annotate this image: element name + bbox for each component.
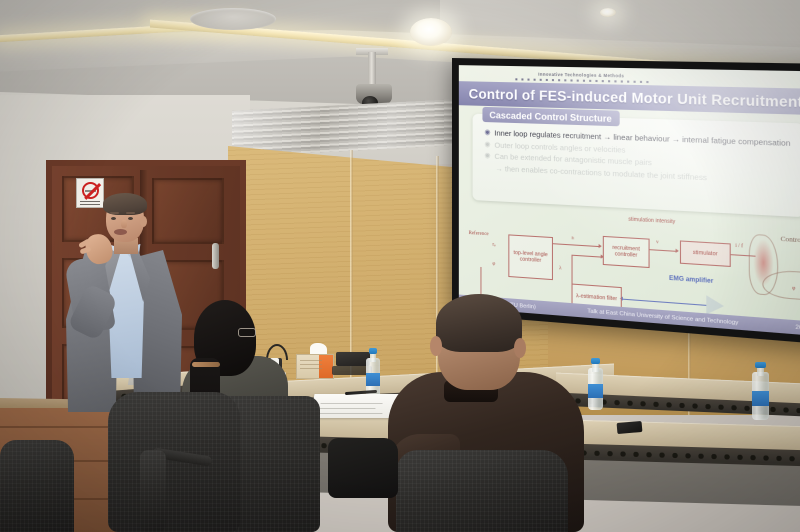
bullet-dot-icon: ◉ <box>484 140 490 150</box>
paper-line-3 <box>318 413 382 414</box>
diagram-block-top-level-angle-controller: top-level angle controller <box>508 234 553 280</box>
slide-bullet-list: ◉ Inner loop regulates recruitment → lin… <box>484 128 794 189</box>
diagram-signal-phi-out: φ <box>792 286 795 292</box>
presenter-nose <box>121 220 127 228</box>
presenter-brow-left <box>110 212 119 214</box>
presenter <box>60 196 190 416</box>
diagram-signal-lambda: λ <box>559 266 562 271</box>
water-bottle-2[interactable] <box>588 358 603 410</box>
presenter-brow-right <box>126 212 135 214</box>
chair-post-left <box>140 450 166 532</box>
attendee-left-glasses-icon <box>238 328 256 337</box>
bottle-cap <box>755 362 765 368</box>
presenter-eye-right <box>128 217 133 220</box>
bag-under-table <box>328 438 398 498</box>
chair-mesh-empty-left <box>108 392 240 532</box>
diagram-label-reference: Reference <box>469 231 489 237</box>
diagram-signal-v: v <box>656 240 659 245</box>
footer-page-number: 26 / 73 <box>795 324 800 332</box>
downlight-icon-5 <box>600 8 616 17</box>
diagram-signal-phi-in: φ <box>492 262 495 267</box>
tissue-box-print <box>300 360 322 372</box>
diagram-arrow-1 <box>599 244 602 248</box>
lecture-room-photo: Innovative Technologies & Methods Contro… <box>0 0 800 532</box>
diagram-link-lambda-in <box>572 255 603 258</box>
block-label: recruitment controller <box>605 244 648 259</box>
paper-line-1 <box>320 403 382 404</box>
diagram-arrow-2 <box>676 249 679 253</box>
attendee-right-ear-right <box>514 338 526 358</box>
bullet-dot-icon: ◉ <box>484 128 490 137</box>
attendee-right-ear-left <box>430 336 442 356</box>
chair-empty-far-left[interactable] <box>0 440 74 532</box>
chair-front-right[interactable] <box>396 450 568 532</box>
diagram-block-stimulator: stimulator <box>680 240 731 267</box>
smartphone[interactable] <box>617 421 643 434</box>
diagram-block-recruitment-controller: recruitment controller <box>603 236 650 268</box>
door-handle[interactable] <box>212 243 219 269</box>
block-label: stimulator <box>693 250 718 258</box>
bottle-label <box>588 384 603 398</box>
diagram-arrow-lambda <box>601 254 604 258</box>
bottle-label <box>366 373 380 386</box>
bottle-cap <box>369 348 377 354</box>
slide-content-box: Cascaded Control Structure ◉ Inner loop … <box>473 114 800 218</box>
diagram-label-emg-amplifier: EMG amplifier <box>669 276 713 285</box>
presenter-mouth <box>114 229 127 235</box>
water-bottle-3[interactable] <box>752 362 769 420</box>
presenter-eye-left <box>111 217 116 220</box>
dark-equipment-2 <box>336 352 370 366</box>
diagram-link-lambda-up <box>572 255 573 296</box>
attendee-left-hair-tie <box>192 362 220 367</box>
bottle-label <box>752 391 769 406</box>
presenter-ear <box>140 216 147 227</box>
diagram-signal-r-lambda: rₗ <box>572 235 575 241</box>
attendee-right-hair <box>436 294 522 352</box>
diagram-link-emg <box>622 299 706 306</box>
chair-mesh-front-right <box>396 450 568 532</box>
paper-line-2 <box>319 408 375 409</box>
chair-mesh-far-left <box>0 440 74 532</box>
bottle-cap <box>591 358 600 364</box>
ceiling-speaker-icon <box>190 8 276 30</box>
projector-mount <box>368 52 376 88</box>
diagram-label-controlled-variable: Controlled variable <box>781 236 800 247</box>
slide-title: Control of FES-induced Motor Unit Recrui… <box>459 86 800 110</box>
diagram-label-stimulation-intensity: stimulation intensity <box>620 216 685 226</box>
chair-empty-left[interactable] <box>108 392 240 532</box>
diagram-signal-i-f: i / f <box>735 244 743 250</box>
diagram-link-2 <box>650 249 678 252</box>
slide-section-heading: Cascaded Control Structure <box>482 107 619 126</box>
chair-post-mesh <box>140 450 166 532</box>
diagram-signal-r-phi: rᵩ <box>492 243 495 248</box>
bullet-dot-icon: ◉ <box>484 152 490 162</box>
diagram-link-1 <box>553 243 601 247</box>
block-label: top-level angle controller <box>510 250 551 265</box>
downlight-icon-1 <box>410 18 452 46</box>
